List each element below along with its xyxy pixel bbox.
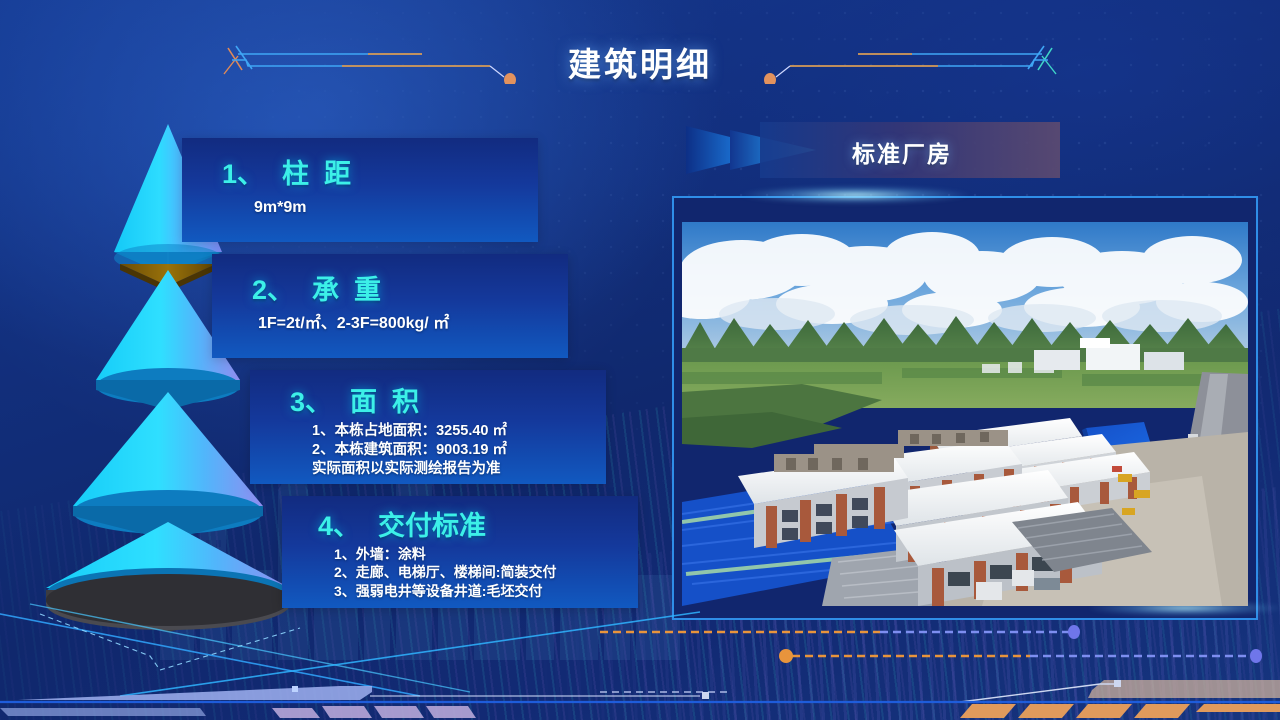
info-panel-2-body: 1F=2t/㎡、2-3F=800kg/ ㎡ — [258, 313, 568, 334]
slide-root: 建筑明细 — [0, 0, 1280, 720]
standard-factory-label: 标准厂房 — [852, 135, 952, 169]
info-panel-4-heading: 4、交付标准 — [318, 504, 638, 543]
info-panel-3-heading: 3、面 积 — [290, 380, 606, 419]
info-panel-1-heading: 1、柱 距 — [222, 152, 538, 191]
photo-frame-glow-top — [740, 186, 970, 204]
info-panel-1[interactable]: 1、柱 距 9m*9m — [182, 138, 538, 242]
info-panel-4[interactable]: 4、交付标准 1、外墙：涂料 2、走廊、电梯厅、楼梯间:简装交付 3、强弱电井等… — [282, 496, 638, 608]
info-panel-2[interactable]: 2、承 重 1F=2t/㎡、2-3F=800kg/ ㎡ — [212, 254, 568, 358]
standard-factory-badge[interactable]: 标准厂房 — [760, 122, 1060, 178]
industrial-park-aerial-photo — [682, 222, 1248, 606]
info-panel-4-body: 1、外墙：涂料 2、走廊、电梯厅、楼梯间:简装交付 3、强弱电井等设备井道:毛坯… — [334, 545, 638, 600]
page-title: 建筑明细 — [0, 38, 1280, 86]
info-panel-3-body: 1、本栋占地面积：3255.40 ㎡ 2、本栋建筑面积：9003.19 ㎡ 实际… — [312, 422, 606, 479]
bottom-tech-decoration — [0, 600, 1280, 720]
info-panel-1-body: 9m*9m — [254, 197, 538, 218]
title-bar: 建筑明细 — [0, 18, 1280, 82]
info-panel-3[interactable]: 3、面 积 1、本栋占地面积：3255.40 ㎡ 2、本栋建筑面积：9003.1… — [250, 370, 606, 484]
info-panel-2-heading: 2、承 重 — [252, 268, 568, 307]
